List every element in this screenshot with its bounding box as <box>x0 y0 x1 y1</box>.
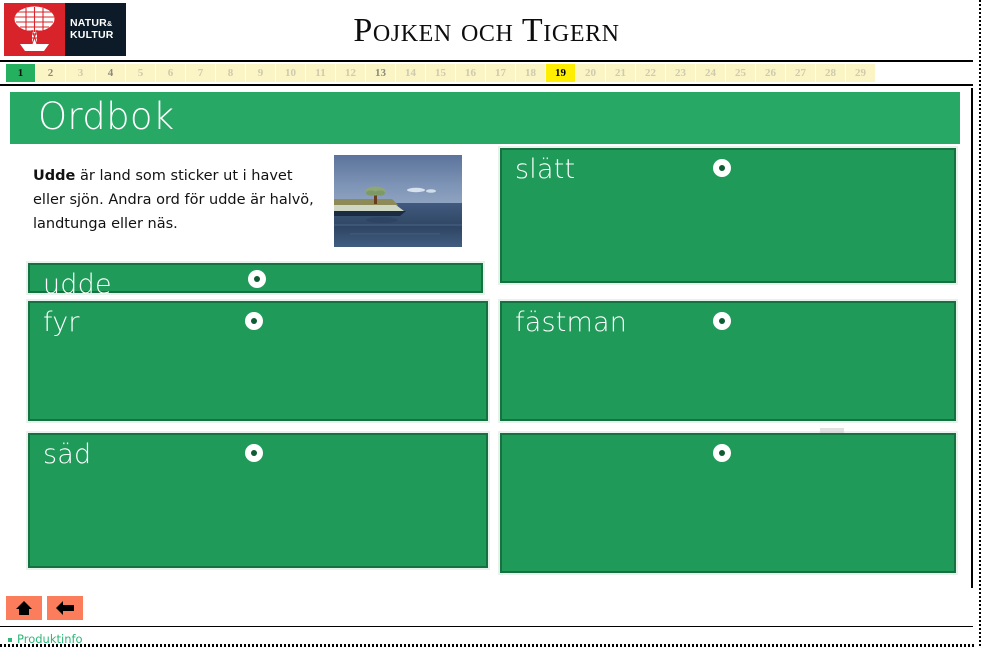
definition-text: Udde är land som sticker ut i havet elle… <box>33 164 319 236</box>
page-tab-8[interactable]: 8 <box>216 64 245 82</box>
page-tab-3[interactable]: 3 <box>66 64 95 82</box>
word-card-fyr[interactable]: fyr <box>28 301 488 421</box>
page-tab-7[interactable]: 7 <box>186 64 215 82</box>
word-label: udde <box>43 269 112 300</box>
arrow-left-icon <box>55 600 75 616</box>
word-card-sad[interactable]: säd <box>28 433 488 568</box>
definition-body: är land som sticker ut i havet eller sjö… <box>33 168 314 232</box>
page-tab-19[interactable]: 19 <box>546 64 575 82</box>
page-title: Pojken och Tigern <box>0 12 973 50</box>
page-tab-23[interactable]: 23 <box>666 64 695 82</box>
page-tab-25[interactable]: 25 <box>726 64 755 82</box>
word-card-udde[interactable]: udde <box>28 263 483 293</box>
home-button[interactable] <box>6 596 42 620</box>
play-audio-icon[interactable] <box>713 312 731 330</box>
page-tab-17[interactable]: 17 <box>486 64 515 82</box>
page-tab-22[interactable]: 22 <box>636 64 665 82</box>
page-number-strip[interactable]: 1234567891011121314151617181920212223242… <box>0 62 973 86</box>
play-audio-icon[interactable] <box>245 312 263 330</box>
page-tab-9[interactable]: 9 <box>246 64 275 82</box>
footer-bar: Produktinfo <box>0 588 973 647</box>
word-card-fastman[interactable]: fästman <box>500 301 956 421</box>
page-tab-21[interactable]: 21 <box>606 64 635 82</box>
word-label: fästman <box>515 307 627 338</box>
render-artifact <box>820 428 844 433</box>
page-tab-1[interactable]: 1 <box>6 64 35 82</box>
section-heading: Ordbok <box>38 95 175 138</box>
udde-illustration <box>330 152 466 250</box>
page-tab-4[interactable]: 4 <box>96 64 125 82</box>
word-card-empty[interactable] <box>500 433 956 573</box>
definition-headword: Udde <box>33 168 75 184</box>
page-tab-24[interactable]: 24 <box>696 64 725 82</box>
page-tab-5[interactable]: 5 <box>126 64 155 82</box>
masthead: NATUR& KULTUR Pojken och Tigern <box>0 0 973 62</box>
page-tab-6[interactable]: 6 <box>156 64 185 82</box>
word-label: säd <box>43 439 91 470</box>
page-tab-26[interactable]: 26 <box>756 64 785 82</box>
page-tab-2[interactable]: 2 <box>36 64 65 82</box>
bullet-icon <box>8 638 12 642</box>
word-label: fyr <box>43 307 80 338</box>
page-tab-11[interactable]: 11 <box>306 64 335 82</box>
play-audio-icon[interactable] <box>713 159 731 177</box>
scrollbar-track <box>973 0 979 647</box>
play-audio-icon[interactable] <box>248 270 266 288</box>
page-tab-13[interactable]: 13 <box>366 64 395 82</box>
scrollbar-gutter[interactable] <box>973 0 981 647</box>
page-tab-14[interactable]: 14 <box>396 64 425 82</box>
word-label: slätt <box>515 154 575 185</box>
application-window: NATUR& KULTUR Pojken och Tigern 12345678… <box>0 0 981 647</box>
page-tab-10[interactable]: 10 <box>276 64 305 82</box>
page-tab-20[interactable]: 20 <box>576 64 605 82</box>
word-card-slatt[interactable]: slätt <box>500 148 956 283</box>
page-tab-12[interactable]: 12 <box>336 64 365 82</box>
play-audio-icon[interactable] <box>713 444 731 462</box>
section-header: Ordbok <box>10 92 960 144</box>
page-tab-29[interactable]: 29 <box>846 64 875 82</box>
page-tab-15[interactable]: 15 <box>426 64 455 82</box>
page-tab-18[interactable]: 18 <box>516 64 545 82</box>
page-tab-27[interactable]: 27 <box>786 64 815 82</box>
page-tab-16[interactable]: 16 <box>456 64 485 82</box>
play-audio-icon[interactable] <box>245 444 263 462</box>
back-button[interactable] <box>47 596 83 620</box>
page-tab-28[interactable]: 28 <box>816 64 845 82</box>
home-icon <box>15 600 33 616</box>
content-area: Ordbok Udde är land som sticker ut i hav… <box>0 88 973 588</box>
footer-divider <box>0 626 973 627</box>
